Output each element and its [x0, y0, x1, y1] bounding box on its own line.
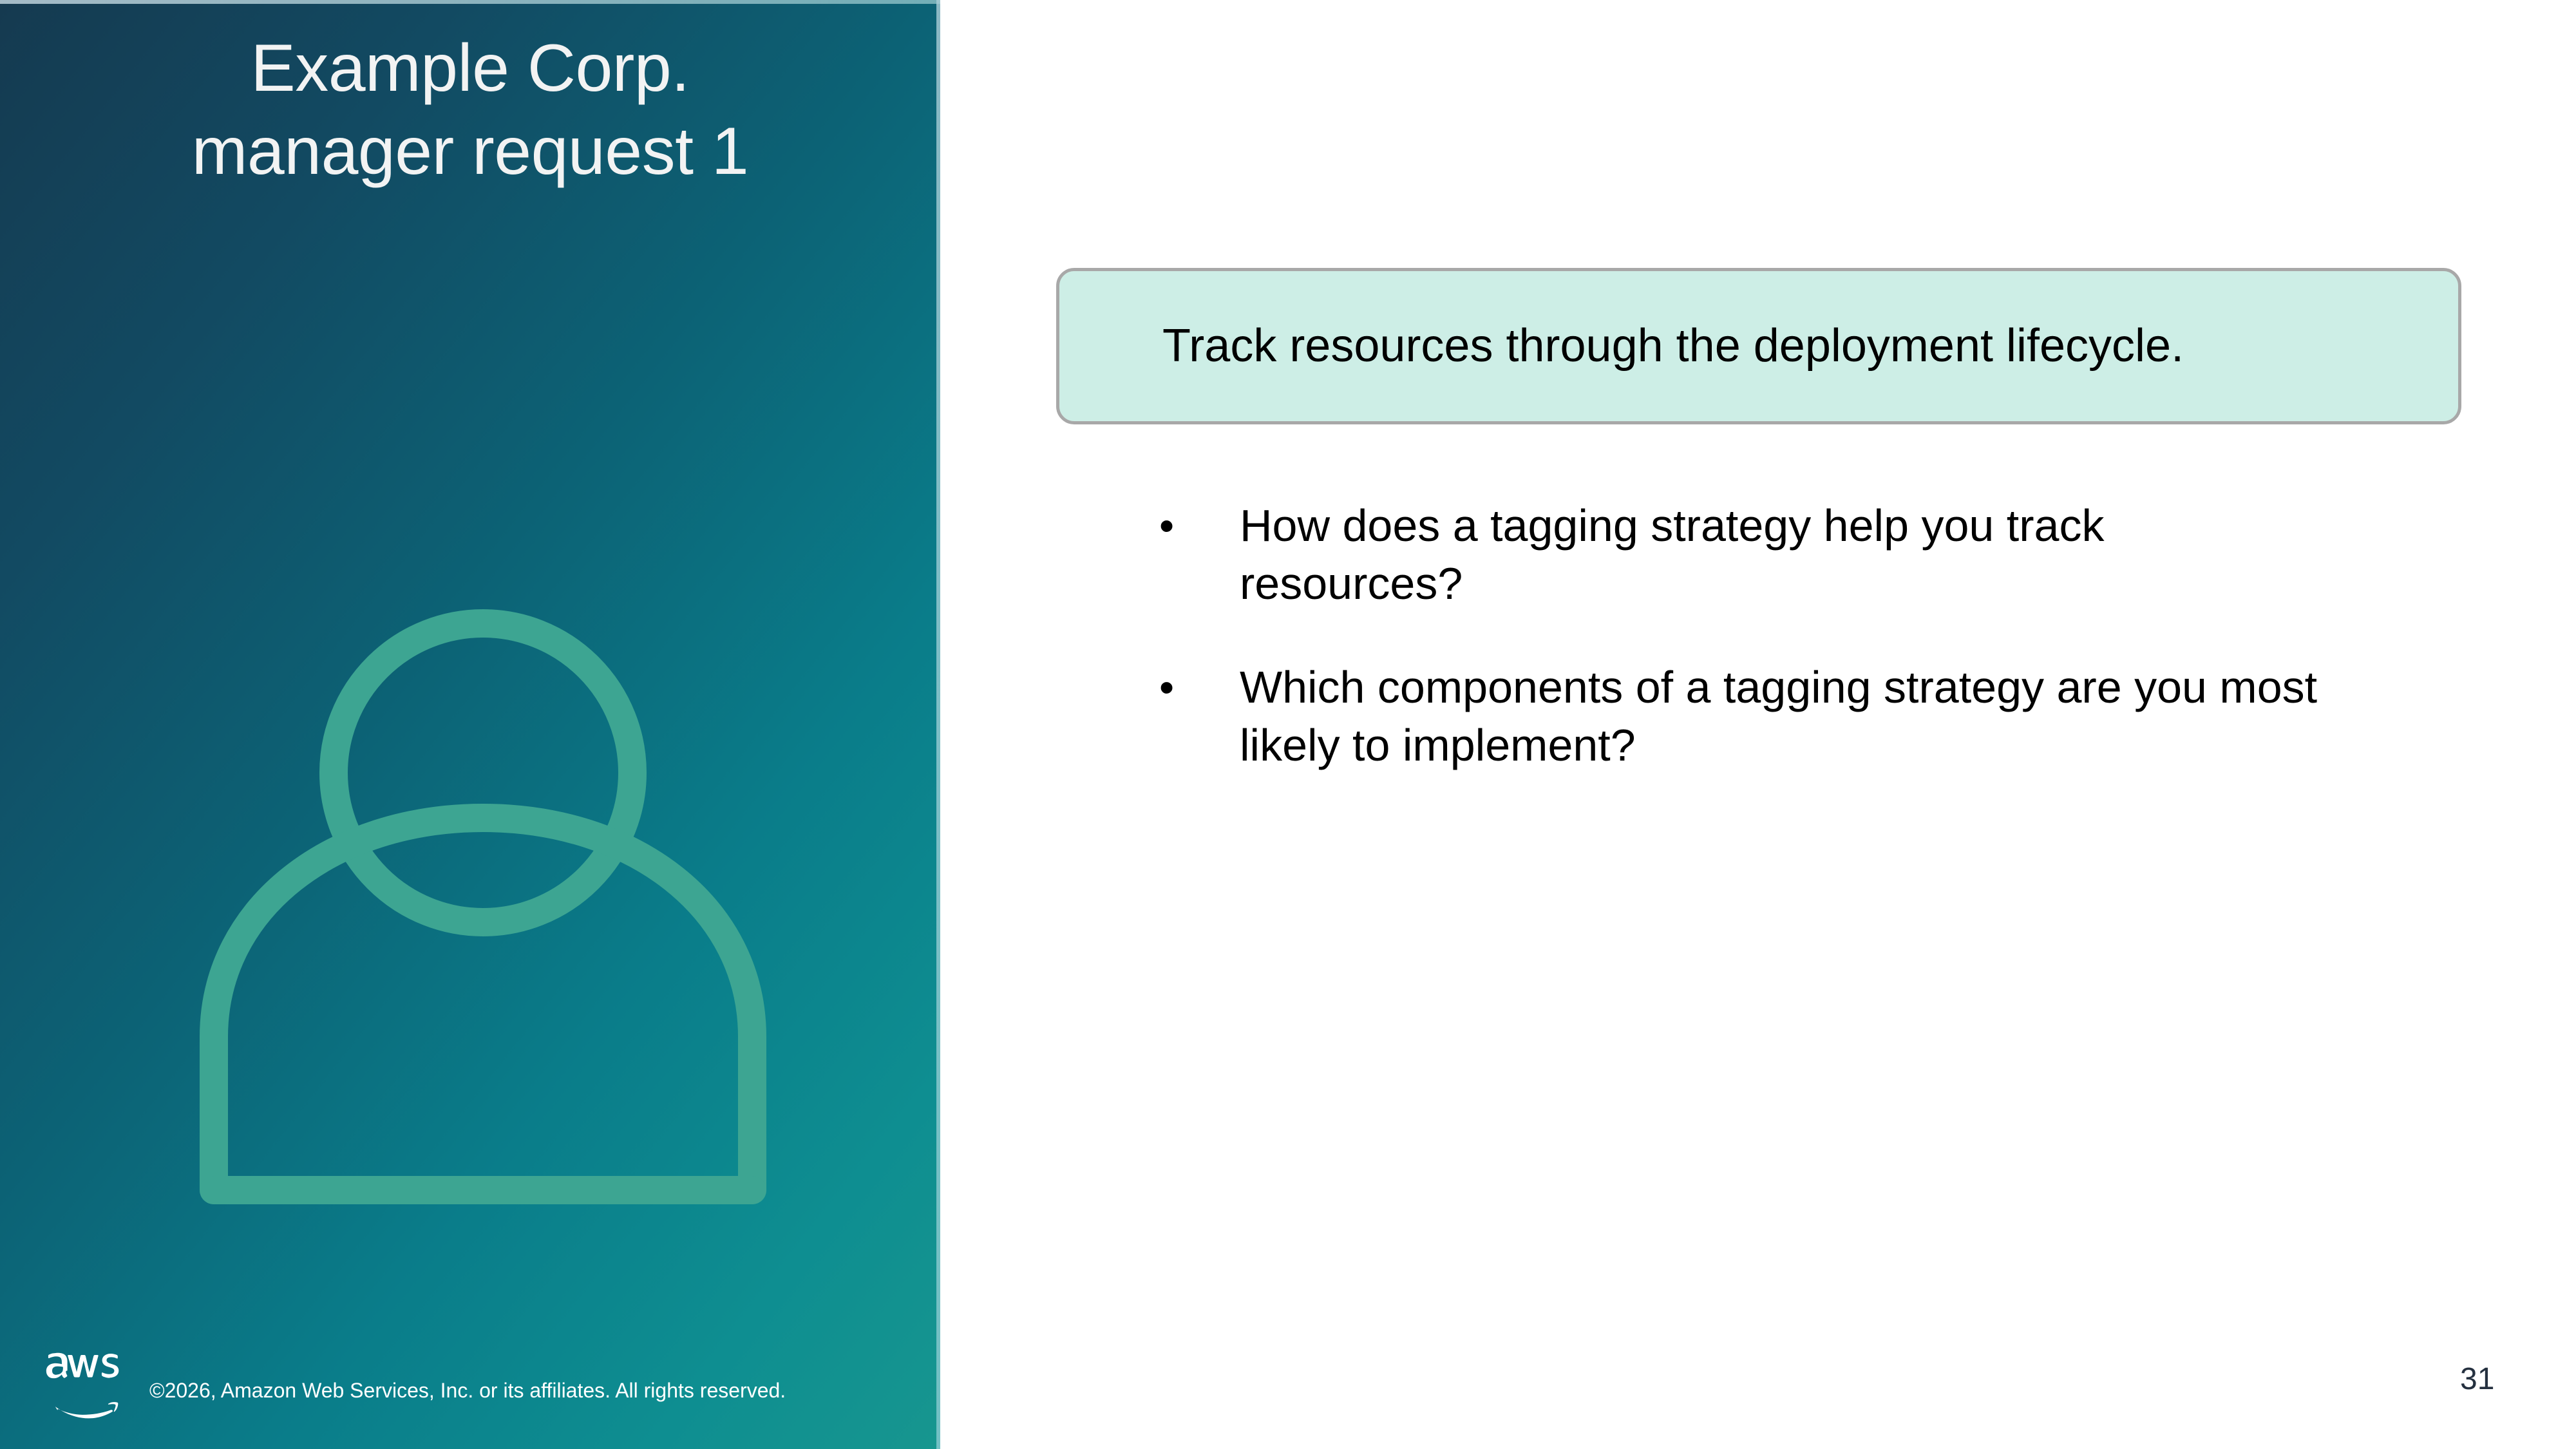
left-gradient-panel: Example Corp. manager request 1: [0, 0, 940, 1449]
bullet-text: How does a tagging strategy help you tra…: [1240, 497, 2334, 612]
aws-logo: [44, 1351, 129, 1421]
person-outline-icon: [187, 586, 779, 1204]
copyright-text: ©2026, Amazon Web Services, Inc. or its …: [149, 1380, 786, 1401]
callout-box: Track resources through the deployment l…: [1056, 268, 2461, 424]
slide-canvas: Example Corp. manager request 1: [0, 0, 2576, 1449]
bullet-marker-icon: •: [1159, 497, 1240, 553]
bullet-marker-icon: •: [1159, 659, 1240, 714]
bullet-list: • How does a tagging strategy help you t…: [1159, 497, 2383, 820]
page-number: 31: [2460, 1364, 2537, 1395]
callout-text: Track resources through the deployment l…: [1162, 318, 2184, 374]
panel-top-edge: [0, 0, 940, 4]
panel-right-edge: [936, 0, 940, 1449]
bullet-text: Which components of a tagging strategy a…: [1240, 659, 2334, 774]
list-item: • How does a tagging strategy help you t…: [1159, 497, 2383, 612]
list-item: • Which components of a tagging strategy…: [1159, 659, 2383, 774]
page-title: Example Corp. manager request 1: [26, 27, 914, 193]
